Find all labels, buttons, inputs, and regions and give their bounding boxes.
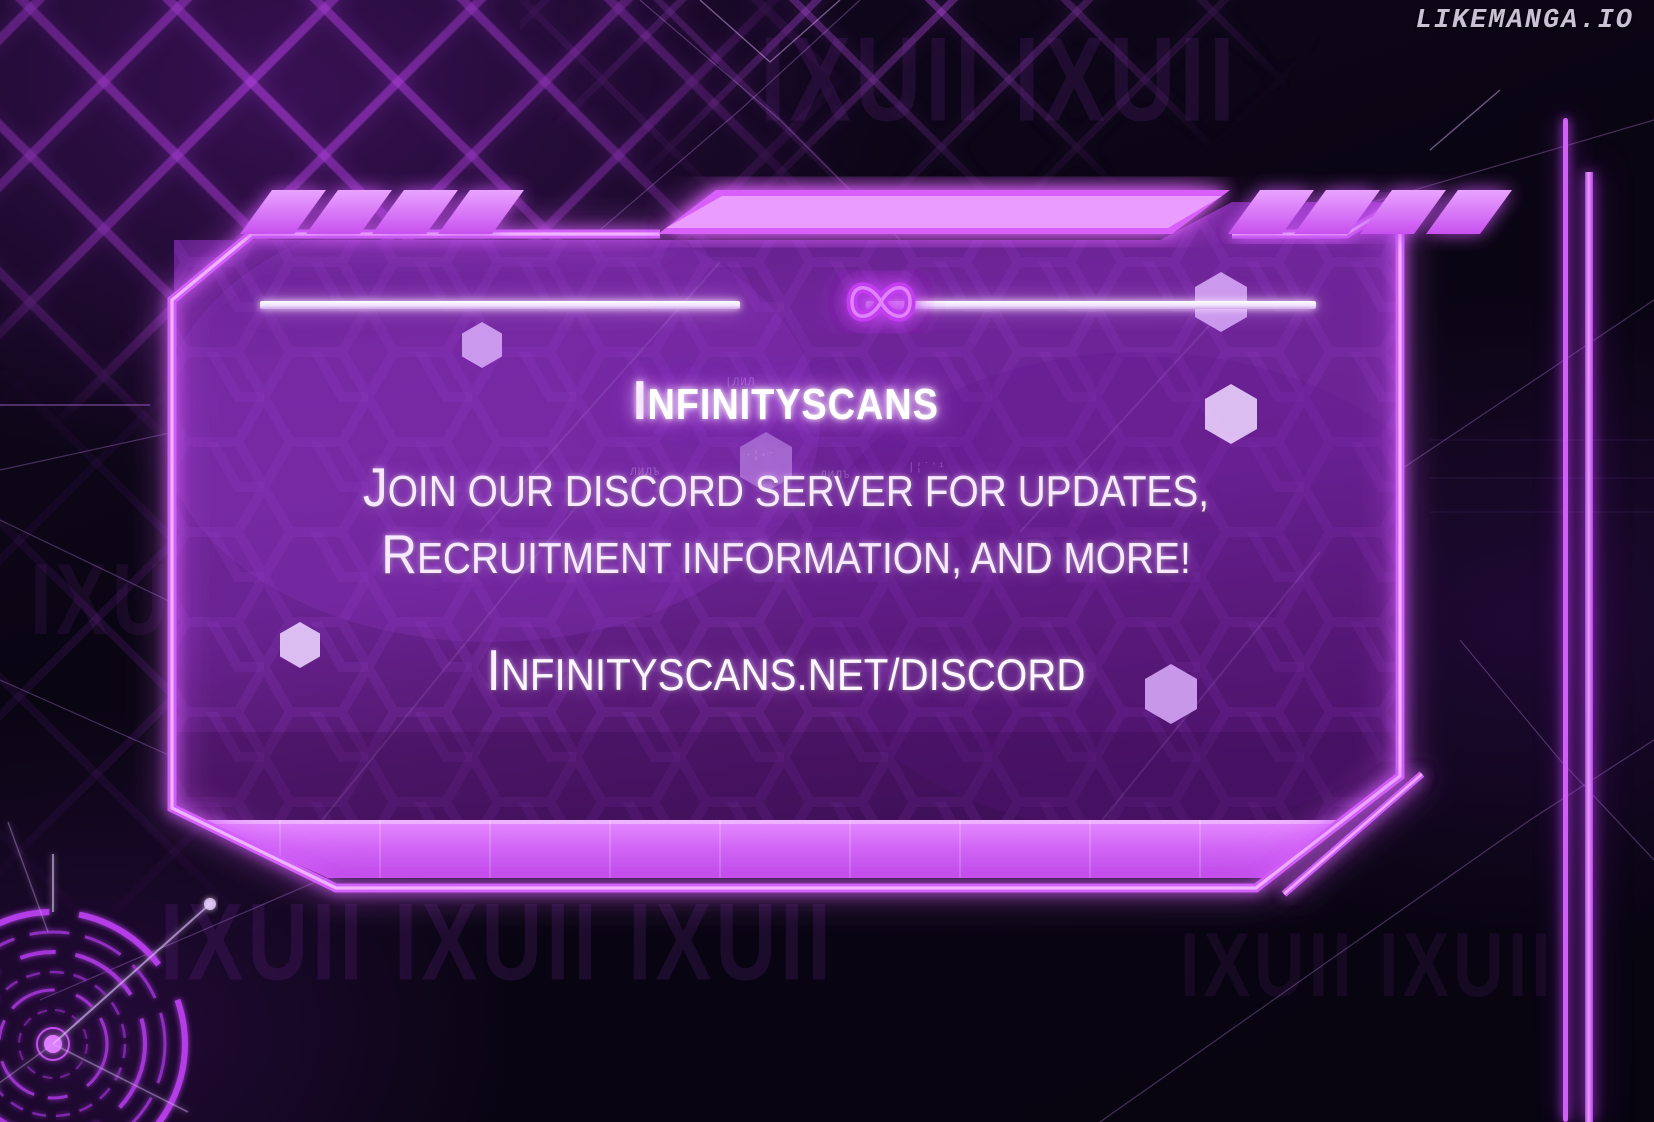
tagline-line-first: R	[381, 523, 417, 585]
brand-title: INFINITYSCANS	[235, 368, 1337, 432]
header-divider	[260, 295, 1316, 315]
tagline-line: JOIN OUR DISCORD SERVER FOR UPDATES,	[223, 454, 1350, 521]
divider-segment-left	[260, 301, 740, 309]
promo-image-canvas: IXUII IXUII IXUII IXUII IXUII IXUII IXUI…	[0, 0, 1654, 1122]
right-edge-neon-line-inner	[1585, 172, 1593, 1122]
headline-block: INFINITYSCANS JOIN OUR DISCORD SERVER FO…	[160, 368, 1412, 588]
discord-url[interactable]: INFINITYSCANS.NET/DISCORD	[223, 638, 1350, 704]
tagline: JOIN OUR DISCORD SERVER FOR UPDATES, REC…	[223, 454, 1350, 588]
hud-panel: |ЛИЛ ЛИЛЪ ЛИЛЪ |¦˙ʻ¹ ·¦·⁻ INFINITYSCANS …	[160, 172, 1412, 894]
brand-title-first: I	[633, 369, 647, 431]
discord-url-rest: NFINITYSCANS.NET/DISCORD	[501, 650, 1086, 700]
tagline-line-rest: OIN OUR DISCORD SERVER FOR UPDATES,	[388, 468, 1209, 516]
brand-title-rest: NFINITYSCANS	[647, 381, 938, 429]
left-edge-line	[0, 404, 150, 406]
hexagon-decoration	[462, 322, 502, 368]
discord-url-first: I	[487, 639, 501, 703]
right-edge-neon-line	[1563, 118, 1568, 1122]
tagline-line-rest: ECRUITMENT INFORMATION, AND MORE!	[417, 535, 1191, 583]
infinity-icon	[816, 257, 946, 347]
panel-content: |ЛИЛ ЛИЛЪ ЛИЛЪ |¦˙ʻ¹ ·¦·⁻ INFINITYSCANS …	[160, 172, 1412, 894]
site-watermark: LIKEMANGA.IO	[1416, 6, 1634, 36]
tagline-line: RECRUITMENT INFORMATION, AND MORE!	[223, 521, 1350, 588]
tagline-line-first: J	[363, 456, 388, 518]
